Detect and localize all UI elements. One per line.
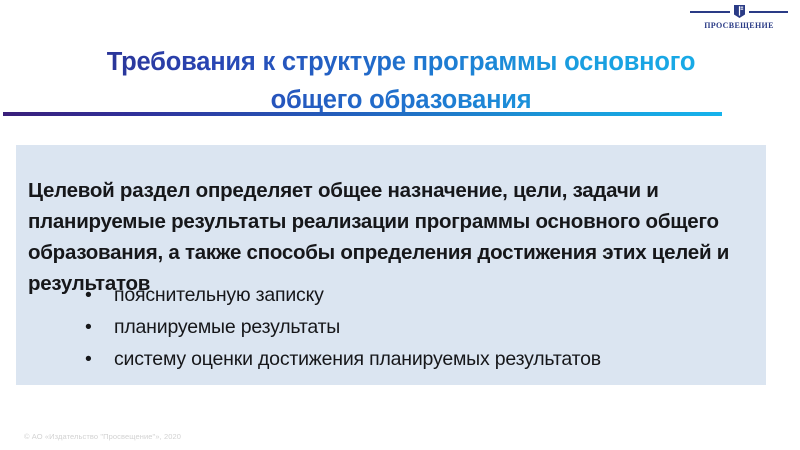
list-item: • пояснительную записку — [28, 279, 754, 311]
content-panel: Целевой раздел определяет общее назначен… — [16, 145, 766, 385]
list-item-label: пояснительную записку — [114, 284, 324, 306]
slide-title: Требования к структуре программы основно… — [70, 43, 732, 119]
list-item-label: планируемые результаты — [114, 316, 340, 338]
bullet-dot-icon: • — [85, 279, 92, 311]
open-book-emblem-icon — [733, 4, 746, 19]
slide-canvas: ПРОСВЕЩЕНИЕ Требования к структуре прогр… — [0, 0, 800, 450]
logo-rule-right — [749, 11, 789, 13]
logo-wordmark: ПРОСВЕЩЕНИЕ — [704, 20, 774, 31]
list-item-label: систему оценки достижения планируемых ре… — [114, 348, 601, 370]
logo-rule-left — [690, 11, 730, 13]
list-item: • систему оценки достижения планируемых … — [28, 343, 754, 375]
list-item: • планируемые результаты — [28, 311, 754, 343]
bullet-dot-icon: • — [85, 311, 92, 343]
logo-mark-row — [690, 4, 788, 19]
bullet-dot-icon: • — [85, 343, 92, 375]
copyright-footer: © АО «Издательство "Просвещение"», 2020 — [24, 431, 181, 442]
bullet-list: • пояснительную записку • планируемые ре… — [28, 279, 754, 375]
title-divider — [3, 112, 722, 116]
publisher-logo: ПРОСВЕЩЕНИЕ — [690, 4, 788, 34]
